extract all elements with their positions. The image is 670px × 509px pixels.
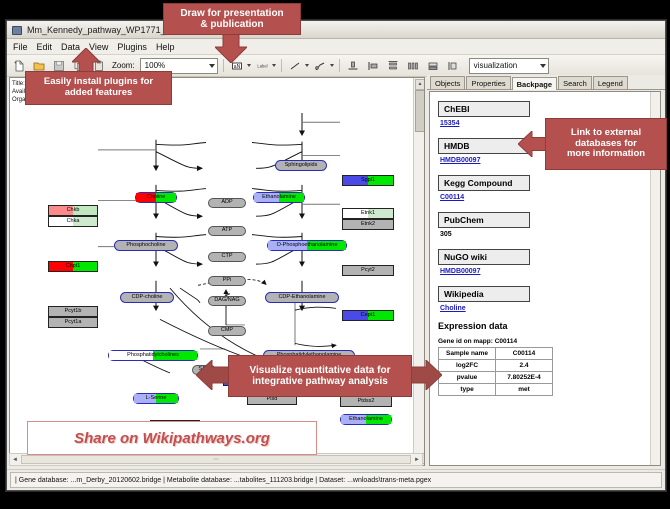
gene-node[interactable]: Etnk1 xyxy=(342,208,394,219)
node-label: L-Serine xyxy=(146,396,167,402)
cell-key: type xyxy=(439,384,496,396)
status-text: | Gene database: ...m_Derby_20120602.bri… xyxy=(10,472,662,488)
interaction-icon[interactable] xyxy=(312,57,329,74)
node-label: ADP xyxy=(221,200,232,206)
backpage-header-chebi: ChEBI xyxy=(438,101,530,117)
gene-node[interactable]: Pcyt1b xyxy=(48,306,98,317)
node-label: Ptdss2 xyxy=(358,399,375,405)
callout-visualize-arrow-left xyxy=(196,360,230,390)
node-label: CDP-choline xyxy=(132,295,163,301)
node-label: Phosphocholine xyxy=(126,243,165,249)
metabolite-node[interactable]: Sphingolipids xyxy=(275,160,327,171)
chevron-down-icon xyxy=(540,64,546,68)
backpage-header-nugo: NuGO wiki xyxy=(438,249,530,265)
cell-key: log2FC xyxy=(439,360,496,372)
menu-item-edit[interactable]: Edit xyxy=(37,42,53,52)
chevron-down-icon[interactable] xyxy=(272,64,276,67)
callout-draw-arrow xyxy=(215,31,247,63)
chevron-down-icon[interactable] xyxy=(305,64,309,67)
node-label: Chpt1 xyxy=(66,264,81,270)
node-label: O-Phosphoethanolamine xyxy=(277,243,338,249)
menu-bar: File Edit Data View Plugins Help xyxy=(7,39,665,55)
status-bar: | Gene database: ...m_Derby_20120602.bri… xyxy=(7,469,665,490)
metabolite-node[interactable]: CDP-choline xyxy=(120,292,174,303)
gene-node[interactable]: Ptdss2 xyxy=(340,396,392,407)
gene-node[interactable]: Pcyt1a xyxy=(48,317,98,328)
backpage-header-kegg: Kegg Compound xyxy=(438,175,530,191)
backpage-value-pubchem: 305 xyxy=(440,231,660,238)
backpage-link-nugo[interactable]: HMDB00097 xyxy=(440,268,660,275)
metabolite-node[interactable]: ADP xyxy=(208,198,246,208)
callout-visualize-text: Visualize quantitative data for integrat… xyxy=(250,365,391,388)
gene-node[interactable]: Sgpl1 xyxy=(342,175,394,186)
node-label: ATP xyxy=(222,228,232,234)
title-bar: Mm_Kennedy_pathway_WP1771_45176.gpml xyxy=(7,21,665,39)
app-icon xyxy=(11,24,22,35)
node-label: CTP xyxy=(222,254,233,260)
backpage-header-pubchem: PubChem xyxy=(438,212,530,228)
expression-table: Sample name C00114 log2FC 2.4 pvalue 7.8… xyxy=(438,347,553,396)
line-icon[interactable] xyxy=(287,57,304,74)
node-label: CDP-Ethanolamine xyxy=(278,295,325,301)
callout-draw-text: Draw for presentation & publication xyxy=(180,8,283,31)
node-label: Pcyt1b xyxy=(65,309,82,315)
distribute-horizontal-icon[interactable] xyxy=(405,57,422,74)
scroll-thumb-horizontal[interactable]: ⋯ xyxy=(21,455,411,464)
same-height-icon[interactable] xyxy=(445,57,462,74)
align-left-icon[interactable] xyxy=(365,57,382,74)
metabolite-node[interactable]: L-Serine xyxy=(133,393,179,404)
callout-links: Link to external databases for more info… xyxy=(545,118,667,170)
gene-node[interactable]: Chkb xyxy=(48,205,98,216)
scroll-left-icon[interactable]: ◄ xyxy=(10,457,20,463)
svg-text:Label: Label xyxy=(257,63,267,68)
metabolite-node[interactable]: Phosphocholine xyxy=(114,240,178,251)
node-label: Pcyt2 xyxy=(361,268,375,274)
interaction-group[interactable] xyxy=(312,57,334,74)
visualization-combo[interactable]: visualization xyxy=(469,58,549,74)
gene-node[interactable]: Cept1 xyxy=(342,310,394,321)
metabolite-node[interactable]: CDP-Ethanolamine xyxy=(265,292,339,303)
node-label: Ethanolamine xyxy=(349,417,383,423)
scroll-thumb[interactable] xyxy=(415,90,425,132)
visualization-value: visualization xyxy=(474,61,518,70)
tab-backpage[interactable]: Backpage xyxy=(512,77,557,90)
callout-draw: Draw for presentation & publication xyxy=(163,3,301,35)
callout-share-text: Share on Wikipathways.org xyxy=(74,430,270,447)
node-label: Phosphatidylcholines xyxy=(127,353,179,359)
metabolite-node[interactable]: Phosphatidylcholines xyxy=(108,350,198,361)
node-label: CMP xyxy=(221,328,233,334)
metabolite-node[interactable]: Ethanolamine xyxy=(340,414,392,425)
metabolite-node[interactable]: Ethanolamine xyxy=(253,192,305,203)
zoom-label: Zoom: xyxy=(112,61,135,70)
line-group[interactable] xyxy=(287,57,309,74)
callout-share-box: Share on Wikipathways.org xyxy=(27,421,317,455)
metabolite-node[interactable]: PPi xyxy=(208,276,246,286)
chevron-down-icon[interactable] xyxy=(247,64,251,67)
metabolite-node[interactable]: ATP xyxy=(208,226,246,236)
expression-data-title: Expression data xyxy=(438,321,660,331)
backpage-link-kegg[interactable]: C00114 xyxy=(440,194,660,201)
table-row: Sample name C00114 xyxy=(439,348,553,360)
scroll-right-icon[interactable]: ► xyxy=(412,457,422,463)
cell-value: 2.4 xyxy=(496,360,553,372)
cell-value: C00114 xyxy=(496,348,553,360)
cell-value: met xyxy=(496,384,553,396)
node-label: Choline xyxy=(147,195,166,201)
chevron-down-icon xyxy=(209,64,215,68)
tab-search[interactable]: Search xyxy=(558,76,592,89)
canvas-vertical-scrollbar[interactable]: ▲ ▼ xyxy=(413,78,424,465)
table-row: pvalue 7.80252E-4 xyxy=(439,372,553,384)
node-label: Etnk1 xyxy=(361,211,375,217)
label-group[interactable]: Label xyxy=(254,57,276,74)
callout-visualize-arrow-right xyxy=(408,360,442,390)
node-label: Sgpl1 xyxy=(361,178,375,184)
backpage-header-hmdb: HMDB xyxy=(438,138,530,154)
metabolite-node[interactable]: Choline xyxy=(135,192,177,203)
toolbar-separator xyxy=(339,59,340,72)
backpage-link-wikipedia[interactable]: Choline xyxy=(440,305,660,312)
cell-key: pvalue xyxy=(439,372,496,384)
backpage-header-wikipedia: Wikipedia xyxy=(438,286,530,302)
same-width-icon[interactable] xyxy=(425,57,442,74)
node-label: PPi xyxy=(223,278,232,284)
node-label: DAG/NAG xyxy=(214,298,239,304)
cell-value: 7.80252E-4 xyxy=(496,372,553,384)
align-bottom-icon[interactable] xyxy=(345,57,362,74)
node-label: Chka xyxy=(67,219,80,225)
node-label: Cept1 xyxy=(361,313,376,319)
menu-item-help[interactable]: Help xyxy=(156,42,175,52)
node-label: Ethanolamine xyxy=(262,195,296,201)
side-panel-tabs: Objects Properties Backpage Search Legen… xyxy=(427,75,665,90)
gene-node[interactable]: Pcyt2 xyxy=(342,265,394,276)
metabolite-node[interactable]: CMP xyxy=(208,326,246,336)
gene-node[interactable]: Etnk2 xyxy=(342,219,394,230)
menu-item-file[interactable]: File xyxy=(13,42,28,52)
table-row: log2FC 2.4 xyxy=(439,360,553,372)
screenshot-root: Mm_Kennedy_pathway_WP1771_45176.gpml Fil… xyxy=(0,0,670,509)
toolbar-separator xyxy=(281,59,282,72)
svg-text:aN: aN xyxy=(234,63,241,69)
callout-links-text: Link to external databases for more info… xyxy=(567,128,645,161)
gene-node[interactable]: Chpt1 xyxy=(48,261,98,272)
zoom-value: 100% xyxy=(145,61,165,70)
gene-id-label: Gene id on mapp: C00114 xyxy=(438,338,660,345)
tab-legend[interactable]: Legend xyxy=(593,76,628,89)
pathway-canvas[interactable]: Title: Availa Organi xyxy=(9,77,425,466)
table-row: type met xyxy=(439,384,553,396)
node-label: Etnk2 xyxy=(361,222,375,228)
callout-links-arrow xyxy=(518,131,548,157)
label-icon[interactable]: Label xyxy=(254,57,271,74)
node-label: Pisd xyxy=(267,397,278,403)
callout-visualize: Visualize quantitative data for integrat… xyxy=(228,355,412,397)
cell-key: Sample name xyxy=(439,348,496,360)
callout-plugins-text: Easily install plugins for added feature… xyxy=(44,77,153,99)
node-label: Sphingolipids xyxy=(285,163,318,169)
chevron-down-icon[interactable] xyxy=(330,64,334,67)
tab-properties[interactable]: Properties xyxy=(466,76,510,89)
stack-vertical-icon[interactable] xyxy=(385,57,402,74)
scroll-up-icon[interactable]: ▲ xyxy=(415,79,425,90)
metabolite-node[interactable]: O-Phosphoethanolamine xyxy=(267,240,347,251)
metabolite-node[interactable]: DAG/NAG xyxy=(208,296,246,306)
metabolite-node[interactable]: CTP xyxy=(208,252,246,262)
menu-item-plugins[interactable]: Plugins xyxy=(117,42,147,52)
node-label: Pcyt1a xyxy=(65,320,82,326)
node-label: Chkb xyxy=(67,208,80,214)
gene-node[interactable]: Chka xyxy=(48,216,98,227)
tab-objects[interactable]: Objects xyxy=(430,76,465,89)
callout-plugins: Easily install plugins for added feature… xyxy=(25,71,172,105)
